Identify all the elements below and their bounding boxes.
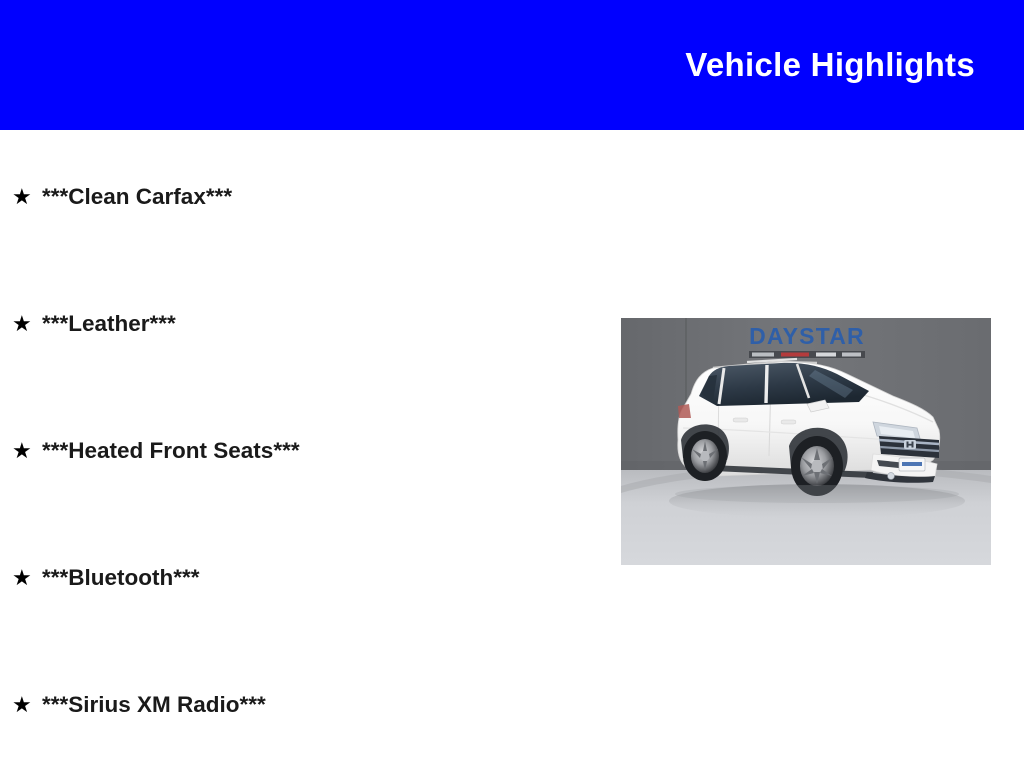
tail-light [678,404,691,418]
list-item: ★ ***Heated Front Seats*** [12,434,300,468]
page-title: Vehicle Highlights [685,46,975,84]
star-icon: ★ [12,186,42,208]
header-banner: Vehicle Highlights [0,0,1024,130]
dealer-sign: DAYSTAR [749,323,865,358]
star-icon: ★ [12,694,42,716]
star-icon: ★ [12,313,42,335]
highlight-label: ***Bluetooth*** [42,565,200,591]
svg-text:DAYSTAR: DAYSTAR [749,323,865,349]
highlight-label: ***Leather*** [42,311,176,337]
list-item: ★ ***Bluetooth*** [12,561,200,595]
rear-wheel [683,431,727,481]
star-icon: ★ [12,440,42,462]
highlight-label: ***Sirius XM Radio*** [42,692,266,718]
list-item: ★ ***Sirius XM Radio*** [12,688,266,722]
floor-reflection [675,485,959,503]
highlight-label: ***Clean Carfax*** [42,184,232,210]
list-item: ★ ***Clean Carfax*** [12,180,232,214]
star-icon: ★ [12,567,42,589]
list-item: ★ ***Leather*** [12,307,176,341]
fog-light [888,473,895,480]
highlight-label: ***Heated Front Seats*** [42,438,300,464]
vehicle-photo: DAYSTAR [621,318,991,565]
